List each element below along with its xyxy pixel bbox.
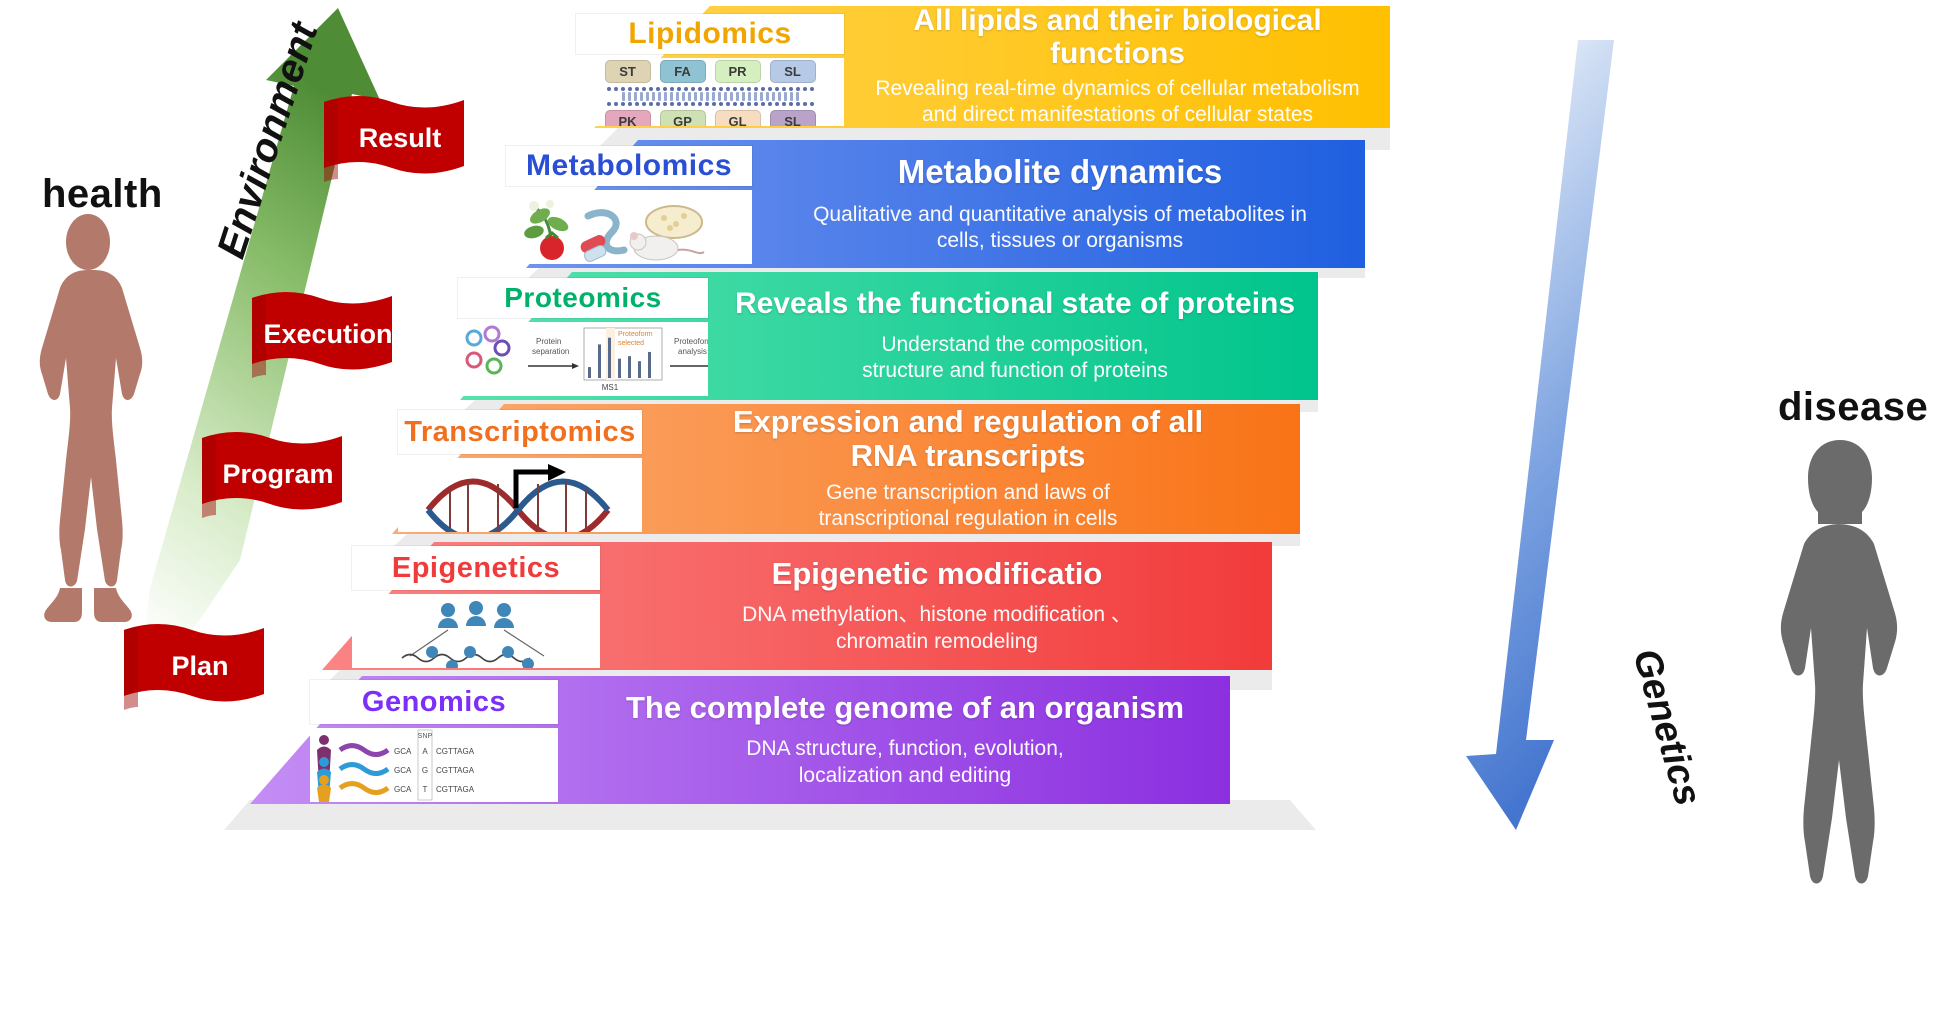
subline-lipidomics-0: Revealing real-time dynamics of cellular… (875, 76, 1359, 102)
seq-left-2: GCA (394, 785, 412, 794)
subline-epigenetics-1: chromatin remodeling (836, 629, 1038, 655)
histone-people-icon (438, 601, 514, 628)
seq-snp-2: T (423, 785, 428, 794)
pyramid-row-proteomics[interactable]: ProteomicsProteinseparationProteoformsel… (460, 272, 1318, 400)
seq-snp-1: G (422, 766, 428, 775)
subline-metabolomics-0: Qualitative and quantitative analysis of… (813, 202, 1307, 228)
panel-genomics: GenomicsSNPGCAACGTTAGAGCAGCGTTAGAGCATCGT… (310, 676, 558, 804)
dna-transcription-icon (398, 458, 642, 532)
lipid-bilayer-icon (588, 87, 832, 106)
lipid-badge-gl-b2: GL (715, 110, 761, 127)
step3-line1: Proteoform (674, 337, 708, 346)
lipid-badge-row: STFAPRSL (588, 60, 832, 83)
pyramid-row-epigenetics[interactable]: EpigeneticsEpigenetic modificatioDNA met… (322, 542, 1272, 670)
title-card-lipidomics: Lipidomics (576, 14, 844, 54)
seq-right-2: CGTTAGA (436, 785, 475, 794)
pyramid-row-genomics[interactable]: GenomicsSNPGCAACGTTAGAGCAGCGTTAGAGCATCGT… (250, 676, 1230, 804)
illustration-genomics: SNPGCAACGTTAGAGCAGCGTTAGAGCATCGTTAGA (310, 728, 558, 802)
title-card-genomics: Genomics (310, 680, 558, 724)
chromatin-remodeling-icon (352, 594, 600, 668)
snp-label: SNP (418, 733, 433, 740)
headline-epigenetics: Epigenetic modificatio (772, 557, 1103, 590)
lipid-badge-pk-b0: PK (605, 110, 651, 127)
subline-proteomics-1: structure and function of proteins (862, 358, 1168, 384)
lipid-badge-gp-b1: GP (660, 110, 706, 127)
panel-proteomics: ProteomicsProteinseparationProteoformsel… (458, 272, 708, 400)
subline-epigenetics-0: DNA methylation、histone modification 、 (742, 602, 1132, 628)
subline-proteomics-0: Understand the composition, (881, 332, 1148, 358)
headline-lipidomics: All lipids and their biological function… (848, 5, 1388, 70)
headline-genomics: The complete genome of an organism (626, 691, 1184, 724)
dna-strand-0 (340, 746, 388, 755)
pyramid-row-metabolomics[interactable]: MetabolomicsMetabolite dynamicsQualitati… (526, 140, 1365, 268)
subline-genomics-0: DNA structure, function, evolution, (746, 736, 1064, 762)
omics-pyramid-diagram: LipidomicsSTFAPRSLPKGPGLSLAll lipids and… (0, 0, 1949, 1030)
seq-right-1: CGTTAGA (436, 766, 475, 775)
lipid-badge-sl-a3: SL (770, 60, 816, 83)
description-lipidomics: All lipids and their biological function… (845, 6, 1390, 128)
description-metabolomics: Metabolite dynamicsQualitative and quant… (760, 140, 1360, 268)
step3-line2: analysis (678, 347, 707, 356)
title-genomics: Genomics (362, 686, 506, 719)
lipid-badge-row: PKGPGLSL (588, 110, 832, 127)
title-lipidomics: Lipidomics (628, 17, 791, 51)
illustration-lipidomics: STFAPRSLPKGPGLSL (576, 58, 844, 126)
flag-label-program: Program (198, 428, 358, 520)
title-card-transcriptomics: Transcriptomics (398, 410, 642, 454)
title-epigenetics: Epigenetics (392, 552, 560, 585)
flag-label-plan: Plan (120, 620, 280, 712)
step1-line1: Protein (536, 337, 561, 346)
panel-transcriptomics: Transcriptomics (398, 404, 642, 534)
seq-snp-0: A (422, 747, 428, 756)
protein-blobs-icon (467, 327, 509, 373)
panel-lipidomics: LipidomicsSTFAPRSLPKGPGLSL (576, 6, 844, 128)
description-transcriptomics: Expression and regulation of all RNA tra… (650, 404, 1286, 534)
step2-line2: selected (618, 340, 644, 347)
health-label: health (42, 172, 163, 217)
description-proteomics: Reveals the functional state of proteins… (715, 272, 1315, 400)
title-card-proteomics: Proteomics (458, 278, 708, 318)
pyramid-row-transcriptomics[interactable]: TranscriptomicsExpression and regulation… (392, 404, 1300, 534)
subline-metabolomics-1: cells, tissues or organisms (937, 228, 1183, 254)
headline-metabolomics: Metabolite dynamics (898, 154, 1223, 190)
title-metabolomics: Metabolomics (526, 149, 732, 183)
title-transcriptomics: Transcriptomics (404, 416, 636, 449)
dna-strand-2 (340, 784, 388, 793)
illustration-proteomics: ProteinseparationProteoformselectedMS1Pr… (458, 322, 708, 396)
flag-label-result: Result (320, 92, 480, 184)
title-card-metabolomics: Metabolomics (506, 146, 752, 186)
illustration-transcriptomics (398, 458, 642, 532)
seq-left-0: GCA (394, 747, 412, 756)
metabolomics-icons (506, 190, 752, 264)
panel-metabolomics: Metabolomics (506, 140, 752, 268)
subline-lipidomics-1: and direct manifestations of cellular st… (922, 102, 1313, 128)
lipid-badge-st-a0: ST (605, 60, 651, 83)
proteomics-workflow: ProteinseparationProteoformselectedMS1Pr… (458, 322, 708, 396)
step2-line1: Proteoform (618, 331, 653, 338)
panel-epigenetics: Epigenetics (352, 542, 600, 670)
flag-execution[interactable]: Execution (248, 288, 408, 380)
title-card-epigenetics: Epigenetics (352, 546, 600, 590)
headline-proteomics: Reveals the functional state of proteins (735, 288, 1295, 320)
lipid-badge-sl-b3: SL (770, 110, 816, 127)
flag-plan[interactable]: Plan (120, 620, 280, 712)
flag-result[interactable]: Result (320, 92, 480, 184)
headline-transcriptomics: Expression and regulation of all RNA tra… (708, 405, 1228, 472)
flag-program[interactable]: Program (198, 428, 358, 520)
human-figures-icon (317, 735, 331, 802)
genomics-snp-icon: SNPGCAACGTTAGAGCAGCGTTAGAGCATCGTTAGA (310, 728, 558, 802)
illustration-epigenetics (352, 594, 600, 668)
lipid-badge-pr-a2: PR (715, 60, 761, 83)
illustration-metabolomics (506, 190, 752, 264)
capsule-icon (579, 233, 608, 263)
tomato-icon (540, 233, 564, 260)
description-epigenetics: Epigenetic modificatioDNA methylation、hi… (612, 542, 1262, 670)
disease-label: disease (1778, 385, 1928, 430)
pyramid-row-lipidomics[interactable]: LipidomicsSTFAPRSLPKGPGLSLAll lipids and… (594, 6, 1390, 128)
seq-right-0: CGTTAGA (436, 747, 475, 756)
subline-transcriptomics-0: Gene transcription and laws of (826, 480, 1110, 506)
flag-label-execution: Execution (248, 288, 408, 380)
ms1-axis-label: MS1 (602, 383, 619, 392)
lipid-badge-fa-a1: FA (660, 60, 706, 83)
petri-dish-icon (646, 206, 702, 238)
step1-line2: separation (532, 347, 569, 356)
description-genomics: The complete genome of an organismDNA st… (570, 676, 1240, 804)
seq-left-1: GCA (394, 766, 412, 775)
subline-transcriptomics-1: transcriptional regulation in cells (819, 506, 1118, 532)
dna-strand-1 (340, 765, 388, 774)
title-proteomics: Proteomics (504, 282, 662, 314)
subline-genomics-1: localization and editing (799, 763, 1011, 789)
